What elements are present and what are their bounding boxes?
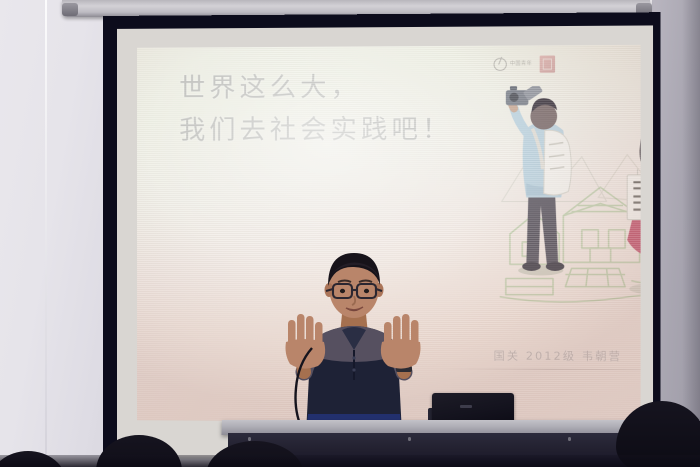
logo-stamp-icon [539,55,554,72]
microphone-cable [282,348,328,424]
foreground-shadow-band [0,455,700,467]
podium-screw-right [568,437,571,440]
organization-logo: 中国青年 [494,52,568,75]
lecture-hall-photo: 世界这么大， 我们去社会实践吧！ 中国青年 国关 2012级 韦朝营 [0,0,700,467]
wall-seam-left [45,0,47,467]
laptop[interactable] [432,393,514,423]
woman-with-flag-icon [611,69,641,301]
photographer-figure-icon [504,86,584,279]
slide-title: 世界这么大， 我们去社会实践吧！ [179,66,452,152]
podium-screw-left [248,437,251,440]
laptop-logo-icon [460,405,472,408]
logo-ring-icon [494,57,507,70]
slide-illustration [500,63,641,318]
logo-wordmark: 中国青年 [510,61,532,67]
slide-credit: 国关 2012级 韦朝营 [494,347,623,364]
credit-divider [440,368,640,370]
roller-cap-left [62,3,78,16]
podium-screw-mid [408,437,411,440]
wall-right-shadow [682,0,700,467]
